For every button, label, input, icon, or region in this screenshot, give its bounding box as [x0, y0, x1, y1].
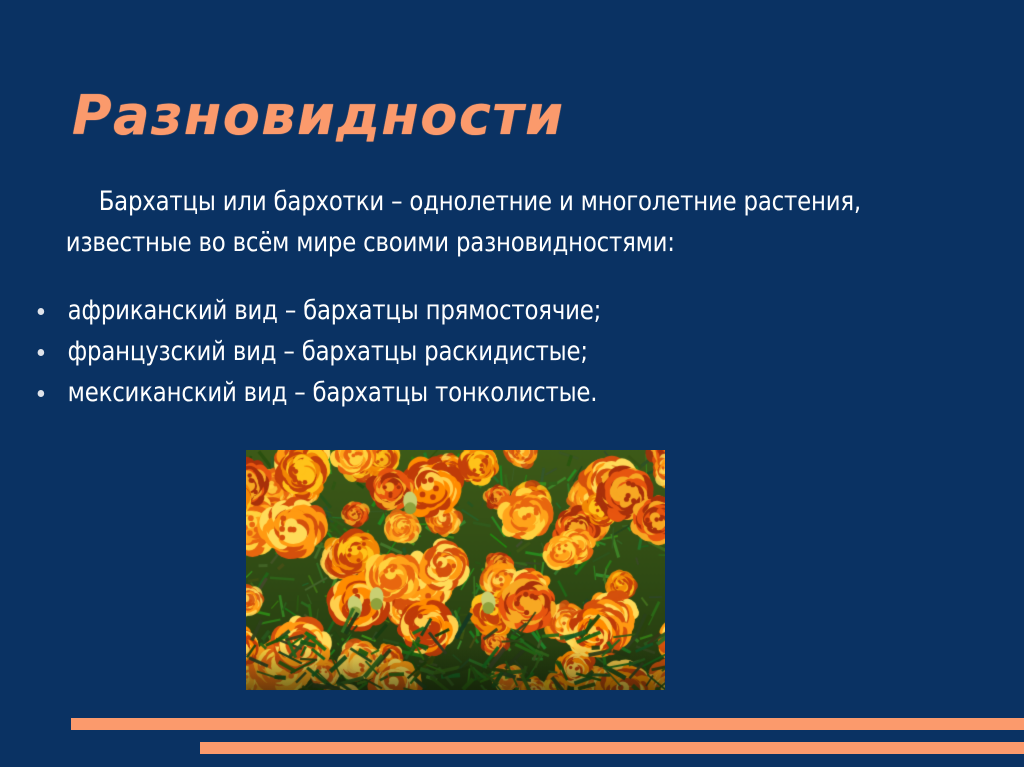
list-item-label: французский вид – бархатцы раскидистые; — [68, 336, 588, 367]
bullet-dot-icon — [38, 390, 45, 397]
bullet-dot-icon — [38, 308, 45, 315]
intro-paragraph: Бархатцы или бархотки – однолетние и мно… — [0, 181, 963, 263]
bullet-dot-icon — [38, 349, 45, 356]
list-item: французский вид – бархатцы раскидистые; — [0, 331, 963, 372]
list-item: мексиканский вид – бархатцы тонколистые. — [0, 372, 963, 413]
marigold-photo — [246, 450, 665, 690]
list-item: африканский вид – бархатцы прямостоячие; — [0, 290, 963, 331]
list-item-label: мексиканский вид – бархатцы тонколистые. — [68, 377, 598, 408]
body-text-block: Бархатцы или бархотки – однолетние и мно… — [0, 154, 1024, 413]
accent-bar-lower — [200, 742, 1024, 754]
page-title: Разновидности — [72, 88, 972, 145]
presentation-slide: Разновидности Бархатцы или бархотки – од… — [0, 0, 1024, 767]
marigold-photo-canvas — [246, 450, 665, 690]
variety-list: африканский вид – бархатцы прямостоячие;… — [0, 290, 1024, 413]
list-item-label: африканский вид – бархатцы прямостоячие; — [68, 295, 601, 326]
accent-bar-upper — [71, 718, 1024, 730]
